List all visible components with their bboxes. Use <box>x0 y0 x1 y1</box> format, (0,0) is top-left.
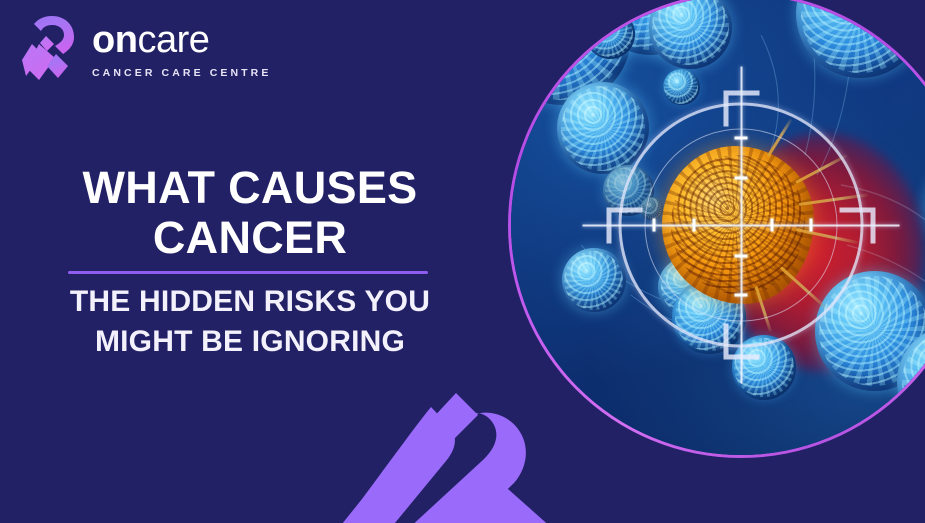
subhead-line-2: MIGHT BE IGNORING <box>38 322 462 362</box>
hero-image-circle <box>508 0 925 458</box>
brand-logo[interactable]: oncare CANCER CARE CENTRE <box>22 14 271 86</box>
hero-image <box>511 0 925 455</box>
page-title: WHAT CAUSES CANCER <box>0 163 500 264</box>
logo-tagline: CANCER CARE CENTRE <box>92 67 271 79</box>
awareness-ribbon-watermark-icon <box>338 379 553 523</box>
cancer-cell <box>562 248 626 312</box>
targeted-tumour-cell <box>662 146 814 304</box>
banner-canvas: oncare CANCER CARE CENTRE WHAT CAUSES CA… <box>0 0 925 523</box>
cancer-cell <box>663 69 700 106</box>
logo-text-block: oncare CANCER CARE CENTRE <box>92 21 271 79</box>
title-divider <box>68 271 428 274</box>
page-subtitle: THE HIDDEN RISKS YOU MIGHT BE IGNORING <box>0 282 500 361</box>
subhead-line-1: THE HIDDEN RISKS YOU <box>38 282 462 322</box>
headline-line-1: WHAT CAUSES <box>60 163 440 213</box>
logo-wordmark-on: on <box>92 19 137 61</box>
logo-wordmark-care: care <box>137 19 209 61</box>
logo-wordmark: oncare <box>92 21 271 59</box>
awareness-ribbon-icon <box>22 14 80 86</box>
cancer-cell <box>557 82 649 174</box>
headline-line-2: CANCER <box>60 213 440 263</box>
cancer-cell <box>732 335 796 399</box>
